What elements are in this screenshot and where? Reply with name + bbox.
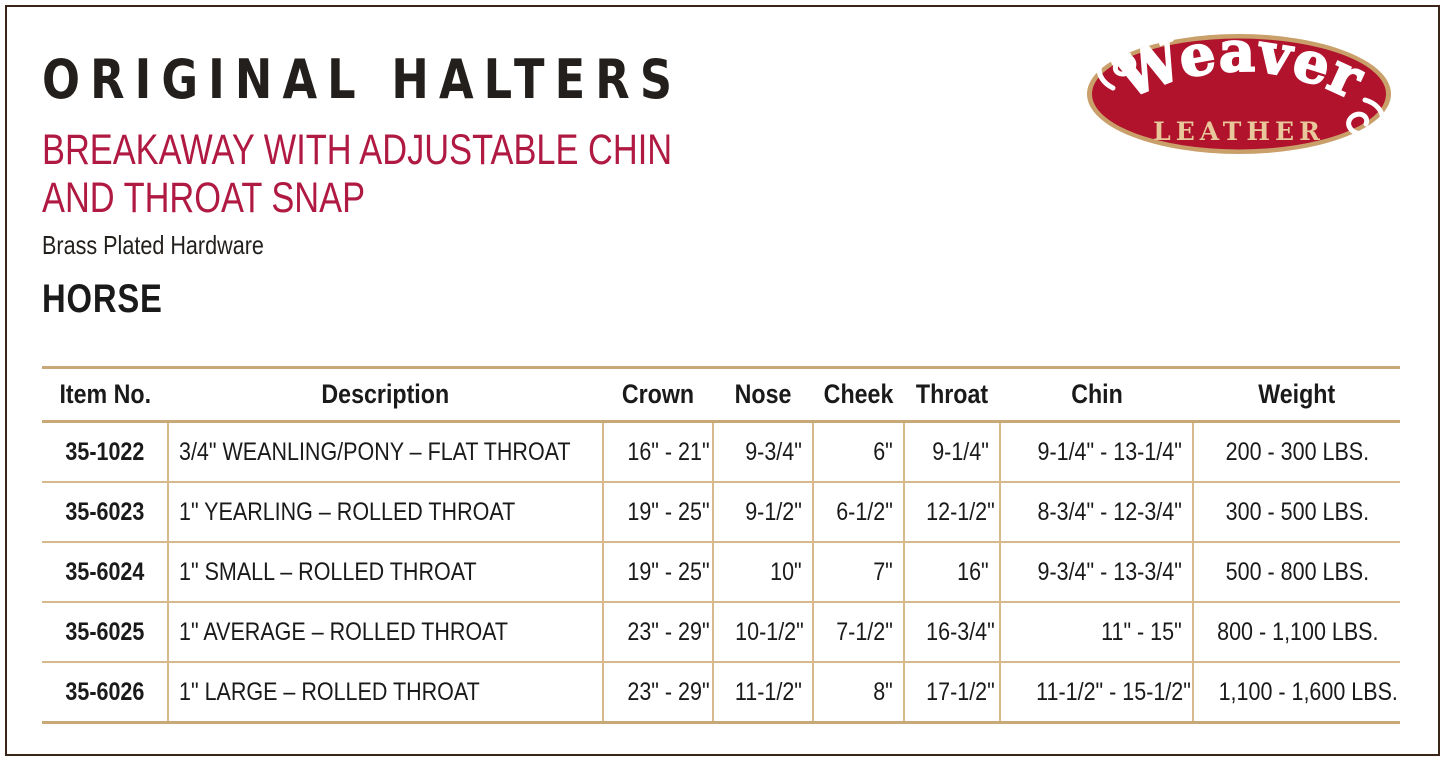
cell-chin: 11" - 15": [1000, 602, 1193, 662]
cell-weight: 800 - 1,100 LBS.: [1193, 602, 1400, 662]
page-subtitle-line1: BREAKAWAY WITH ADJUSTABLE CHIN: [42, 126, 672, 174]
cell-nose: 9-1/2": [713, 482, 813, 542]
section-label-horse: HORSE: [42, 278, 862, 320]
table-row: 35-6024 1" SMALL – ROLLED THROAT 19" - 2…: [42, 542, 1400, 602]
page-subtitle-line2: AND THROAT SNAP: [42, 174, 842, 222]
cell-cheek: 7": [813, 542, 904, 602]
cell-cheek: 8": [813, 662, 904, 723]
cell-throat: 17-1/2": [904, 662, 1000, 723]
cell-item-no: 35-6025: [42, 602, 168, 662]
cell-chin: 9-3/4" - 13-3/4": [1000, 542, 1193, 602]
hardware-note: Brass Plated Hardware: [42, 230, 872, 260]
table-row: 35-1022 3/4" WEANLING/PONY – FLAT THROAT…: [42, 422, 1400, 483]
cell-crown: 16" - 21": [603, 422, 713, 483]
cell-description: 1" AVERAGE – ROLLED THROAT: [168, 602, 603, 662]
cell-nose: 11-1/2": [713, 662, 813, 723]
product-spec-sheet: ORIGINAL HALTERS BREAKAWAY WITH ADJUSTAB…: [0, 0, 1445, 761]
cell-throat: 16": [904, 542, 1000, 602]
cell-nose: 10": [713, 542, 813, 602]
cell-item-no: 35-1022: [42, 422, 168, 483]
spec-table-container: Item No. Description Crown Nose Cheek Th…: [42, 366, 1400, 724]
cell-cheek: 6": [813, 422, 904, 483]
cell-throat: 16-3/4": [904, 602, 1000, 662]
table-header-row: Item No. Description Crown Nose Cheek Th…: [42, 368, 1400, 422]
cell-throat: 9-1/4": [904, 422, 1000, 483]
column-header-chin: Chin: [1000, 368, 1193, 422]
cell-crown: 19" - 25": [603, 482, 713, 542]
cell-chin: 9-1/4" - 13-1/4": [1000, 422, 1193, 483]
header-block: ORIGINAL HALTERS BREAKAWAY WITH ADJUSTAB…: [42, 52, 1042, 320]
cell-nose: 9-3/4": [713, 422, 813, 483]
table-row: 35-6026 1" LARGE – ROLLED THROAT 23" - 2…: [42, 662, 1400, 723]
cell-crown: 19" - 25": [603, 542, 713, 602]
column-header-cheek: Cheek: [813, 368, 904, 422]
logo-subbrand-text: LEATHER: [1153, 117, 1325, 146]
cell-chin: 11-1/2" - 15-1/2": [1000, 662, 1193, 723]
cell-weight: 300 - 500 LBS.: [1193, 482, 1400, 542]
spec-table: Item No. Description Crown Nose Cheek Th…: [42, 366, 1400, 724]
cell-description: 3/4" WEANLING/PONY – FLAT THROAT: [168, 422, 603, 483]
cell-crown: 23" - 29": [603, 602, 713, 662]
spec-table-body: 35-1022 3/4" WEANLING/PONY – FLAT THROAT…: [42, 422, 1400, 723]
cell-description: 1" SMALL – ROLLED THROAT: [168, 542, 603, 602]
table-row: 35-6025 1" AVERAGE – ROLLED THROAT 23" -…: [42, 602, 1400, 662]
page-subtitle: BREAKAWAY WITH ADJUSTABLE CHIN AND THROA…: [42, 126, 842, 222]
page-title: ORIGINAL HALTERS: [42, 52, 962, 108]
cell-item-no: 35-6026: [42, 662, 168, 723]
cell-cheek: 7-1/2": [813, 602, 904, 662]
column-header-weight: Weight: [1193, 368, 1400, 422]
cell-crown: 23" - 29": [603, 662, 713, 723]
cell-weight: 1,100 - 1,600 LBS.: [1193, 662, 1400, 723]
table-row: 35-6023 1" YEARLING – ROLLED THROAT 19" …: [42, 482, 1400, 542]
cell-weight: 200 - 300 LBS.: [1193, 422, 1400, 483]
cell-description: 1" YEARLING – ROLLED THROAT: [168, 482, 603, 542]
column-header-description: Description: [168, 368, 603, 422]
cell-item-no: 35-6023: [42, 482, 168, 542]
cell-chin: 8-3/4" - 12-3/4": [1000, 482, 1193, 542]
column-header-item-no: Item No.: [42, 368, 168, 422]
cell-nose: 10-1/2": [713, 602, 813, 662]
column-header-crown: Crown: [603, 368, 713, 422]
column-header-throat: Throat: [904, 368, 1000, 422]
cell-weight: 500 - 800 LBS.: [1193, 542, 1400, 602]
logo-icon: Weaver LEATHER: [1069, 22, 1409, 172]
cell-cheek: 6-1/2": [813, 482, 904, 542]
column-header-nose: Nose: [713, 368, 813, 422]
cell-description: 1" LARGE – ROLLED THROAT: [168, 662, 603, 723]
cell-throat: 12-1/2": [904, 482, 1000, 542]
cell-item-no: 35-6024: [42, 542, 168, 602]
weaver-leather-logo: Weaver LEATHER: [1069, 22, 1409, 172]
